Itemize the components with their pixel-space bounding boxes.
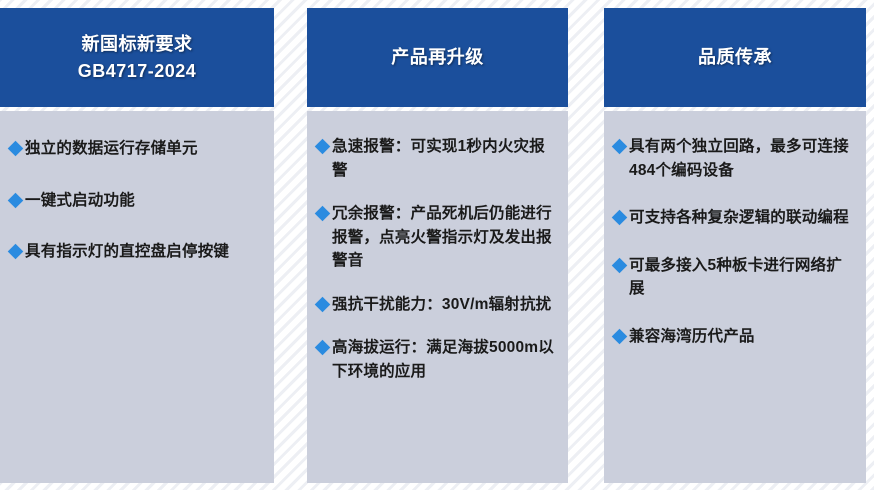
list-item: 急速报警：可实现1秒内火灾报警 bbox=[317, 135, 558, 182]
diamond-bullet-icon bbox=[8, 192, 24, 208]
feature-column-quality-heritage: 品质传承 具有两个独立回路，最多可连接484个编码设备 可支持各种复杂逻辑的联动… bbox=[604, 8, 866, 483]
list-item: 具有两个独立回路，最多可连接484个编码设备 bbox=[614, 135, 856, 182]
list-item: 可最多接入5种板卡进行网络扩展 bbox=[614, 254, 856, 301]
diamond-bullet-icon bbox=[612, 257, 628, 273]
bullet-text: 高海拔运行：满足海拔5000m以下环境的应用 bbox=[332, 336, 558, 383]
diamond-bullet-icon bbox=[8, 141, 24, 157]
column-title-line-1: 品质传承 bbox=[698, 44, 772, 70]
diamond-bullet-icon bbox=[315, 139, 331, 155]
diamond-bullet-icon bbox=[612, 328, 628, 344]
diamond-bullet-icon bbox=[612, 139, 628, 155]
bullet-text: 具有指示灯的直控盘启停按键 bbox=[25, 240, 264, 264]
list-item: 可支持各种复杂逻辑的联动编程 bbox=[614, 206, 856, 230]
bullet-text: 兼容海湾历代产品 bbox=[629, 325, 856, 349]
column-title-line-1: 产品再升级 bbox=[391, 44, 484, 70]
column-header-new-standard: 新国标新要求 GB4717-2024 bbox=[0, 8, 274, 107]
diamond-bullet-icon bbox=[612, 210, 628, 226]
list-item: 具有指示灯的直控盘启停按键 bbox=[10, 240, 264, 264]
diamond-bullet-icon bbox=[315, 206, 331, 222]
bullet-text: 具有两个独立回路，最多可连接484个编码设备 bbox=[629, 135, 856, 182]
list-item: 高海拔运行：满足海拔5000m以下环境的应用 bbox=[317, 336, 558, 383]
diamond-bullet-icon bbox=[8, 244, 24, 260]
bullet-text: 可支持各种复杂逻辑的联动编程 bbox=[629, 206, 856, 230]
bullet-text: 独立的数据运行存储单元 bbox=[25, 137, 264, 161]
diamond-bullet-icon bbox=[315, 340, 331, 356]
column-body-quality-heritage: 具有两个独立回路，最多可连接484个编码设备 可支持各种复杂逻辑的联动编程 可最… bbox=[604, 111, 866, 483]
column-body-product-upgrade: 急速报警：可实现1秒内火灾报警 冗余报警：产品死机后仍能进行报警，点亮火警指示灯… bbox=[307, 111, 568, 483]
list-item: 独立的数据运行存储单元 bbox=[10, 137, 264, 161]
bullet-text: 冗余报警：产品死机后仍能进行报警，点亮火警指示灯及发出报警音 bbox=[332, 202, 558, 273]
feature-columns: 新国标新要求 GB4717-2024 独立的数据运行存储单元 一键式启动功能 具… bbox=[0, 0, 874, 490]
bullet-text: 强抗干扰能力：30V/m辐射抗扰 bbox=[332, 293, 558, 317]
list-item: 兼容海湾历代产品 bbox=[614, 325, 856, 349]
column-body-new-standard: 独立的数据运行存储单元 一键式启动功能 具有指示灯的直控盘启停按键 bbox=[0, 111, 274, 483]
list-item: 一键式启动功能 bbox=[10, 189, 264, 213]
feature-column-product-upgrade: 产品再升级 急速报警：可实现1秒内火灾报警 冗余报警：产品死机后仍能进行报警，点… bbox=[307, 8, 568, 483]
list-item: 冗余报警：产品死机后仍能进行报警，点亮火警指示灯及发出报警音 bbox=[317, 202, 558, 273]
column-title-line-2: GB4717-2024 bbox=[78, 58, 197, 84]
column-header-quality-heritage: 品质传承 bbox=[604, 8, 866, 107]
feature-column-new-standard: 新国标新要求 GB4717-2024 独立的数据运行存储单元 一键式启动功能 具… bbox=[0, 8, 274, 483]
bullet-text: 可最多接入5种板卡进行网络扩展 bbox=[629, 254, 856, 301]
column-title-line-1: 新国标新要求 bbox=[82, 31, 193, 57]
column-header-product-upgrade: 产品再升级 bbox=[307, 8, 568, 107]
list-item: 强抗干扰能力：30V/m辐射抗扰 bbox=[317, 293, 558, 317]
diamond-bullet-icon bbox=[315, 296, 331, 312]
bullet-text: 急速报警：可实现1秒内火灾报警 bbox=[332, 135, 558, 182]
bullet-text: 一键式启动功能 bbox=[25, 189, 264, 213]
